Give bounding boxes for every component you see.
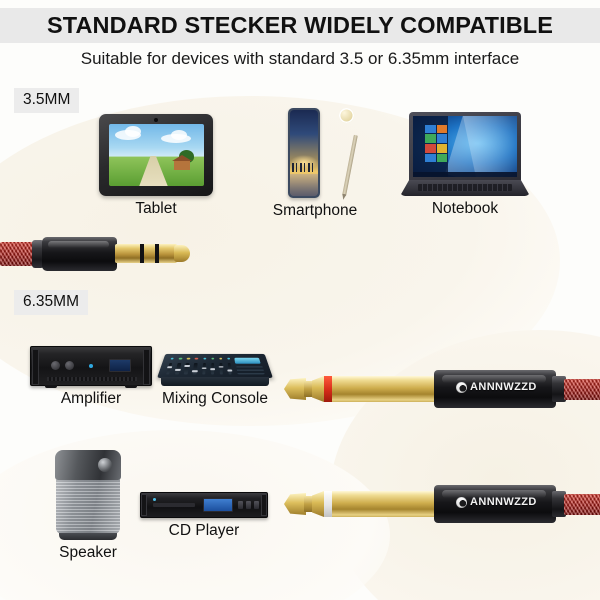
section-badge-6-35mm: 6.35MM xyxy=(14,290,88,315)
tablet-icon xyxy=(97,112,215,196)
device-label: Smartphone xyxy=(273,202,357,220)
device-amplifier: Amplifier xyxy=(28,340,154,408)
plug-housing: ANNNWZZD xyxy=(434,370,556,408)
device-label: Tablet xyxy=(135,200,176,218)
plug-tip xyxy=(284,378,306,400)
cable-braid xyxy=(564,494,600,515)
plug-flare xyxy=(312,376,324,402)
plug-tip xyxy=(284,493,306,515)
page-subtitle: Suitable for devices with standard 3.5 o… xyxy=(0,49,600,69)
device-cd-player: CD Player xyxy=(138,480,270,540)
cd-player-icon xyxy=(138,480,270,518)
brand-name: ANNNWZZD xyxy=(470,496,537,508)
plug-insulator-ring xyxy=(155,244,159,263)
plug-barrel xyxy=(42,237,117,271)
plug-insulator-ring xyxy=(140,244,144,263)
phone-ring-icon xyxy=(339,108,354,123)
plug-flare xyxy=(312,491,324,517)
plug-gold-shaft xyxy=(115,244,177,263)
device-smartphone: Smartphone xyxy=(270,106,360,220)
stylus-icon xyxy=(342,135,358,197)
device-label: Amplifier xyxy=(61,390,121,408)
cable-braid xyxy=(564,379,600,400)
device-speaker: Speaker xyxy=(40,448,136,562)
brand-logo: ANNNWZZD xyxy=(456,381,537,393)
tablet-camera-icon xyxy=(154,118,158,122)
notebook-icon xyxy=(398,110,532,196)
plug-gold-shaft xyxy=(332,376,438,402)
page-title: STANDARD STECKER WIDELY COMPATIBLE xyxy=(0,8,600,43)
device-mixing-console: Mixing Console xyxy=(155,336,275,408)
plug-gold-shaft xyxy=(332,491,438,517)
device-label: Notebook xyxy=(432,200,498,218)
plug-tip xyxy=(174,245,190,262)
swirl-logo-icon xyxy=(456,382,467,393)
brand-logo: ANNNWZZD xyxy=(456,496,537,508)
plug-housing: ANNNWZZD xyxy=(434,485,556,523)
speaker-icon xyxy=(40,448,136,540)
device-label: Mixing Console xyxy=(162,390,268,408)
mixing-console-icon xyxy=(155,336,275,386)
swirl-logo-icon xyxy=(456,497,467,508)
device-label: CD Player xyxy=(169,522,240,540)
infographic-canvas: STANDARD STECKER WIDELY COMPATIBLE Suita… xyxy=(0,0,600,600)
smartphone-icon xyxy=(270,106,360,198)
amplifier-icon xyxy=(28,340,154,386)
device-label: Speaker xyxy=(59,544,117,562)
cable-braid xyxy=(0,242,36,266)
device-notebook: Notebook xyxy=(398,110,532,218)
brand-name: ANNNWZZD xyxy=(470,381,537,393)
section-badge-3-5mm: 3.5MM xyxy=(14,88,79,113)
device-tablet: Tablet xyxy=(97,112,215,218)
